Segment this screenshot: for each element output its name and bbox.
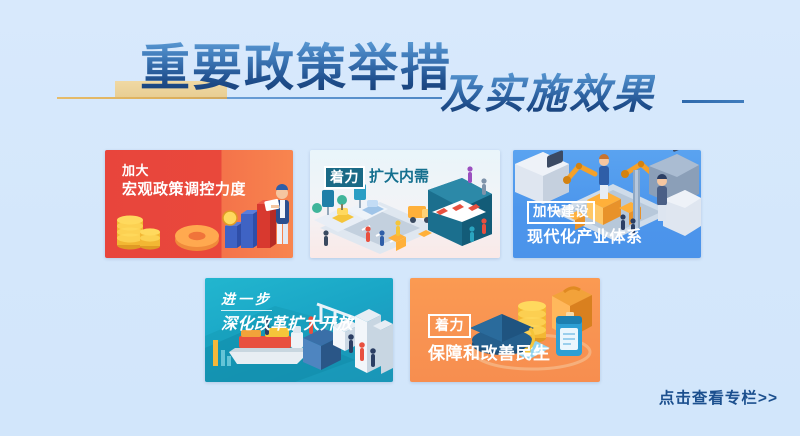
card4-caption: 进一步 深化改革扩大开放 [221, 290, 353, 335]
title-rule-right [682, 100, 744, 103]
page-header: 重要政策举措 及实施效果 [0, 0, 800, 140]
card2-line2: 扩大内需 [367, 168, 429, 186]
card3-line1: 加快建设 [527, 201, 595, 224]
policy-card-livelihood[interactable]: 着力 保障和改善民生 [410, 278, 600, 382]
view-column-link[interactable]: 点击查看专栏>> [659, 386, 778, 408]
card3-caption: 加快建设 现代化产业体系 [527, 201, 643, 248]
page-title-main: 重要政策举措 [140, 40, 452, 96]
policy-card-modern-industry[interactable]: 加快建设 现代化产业体系 [513, 150, 701, 258]
policy-card-macro-control[interactable]: 加大 宏观政策调控力度 [105, 150, 293, 258]
card1-line1: 加大 [122, 163, 246, 179]
card5-line2: 保障和改善民生 [428, 344, 551, 365]
card3-line2: 现代化产业体系 [527, 228, 643, 248]
card4-line2: 深化改革扩大开放 [221, 315, 353, 335]
card2-line1: 着力 [324, 166, 365, 189]
page-title-sub: 及实施效果 [440, 70, 655, 118]
card5-line1: 着力 [428, 314, 471, 338]
title-rule-underline [227, 97, 442, 99]
policy-card-reform-opening[interactable]: 进一步 深化改革扩大开放 [205, 278, 393, 382]
card5-caption: 着力 保障和改善民生 [428, 314, 551, 365]
title-rule-left [57, 97, 227, 99]
card4-line1: 进一步 [221, 291, 272, 311]
card1-line2: 宏观政策调控力度 [122, 181, 246, 199]
policy-card-domestic-demand[interactable]: 着力 扩大内需 [310, 150, 500, 258]
card1-caption: 加大 宏观政策调控力度 [122, 163, 246, 199]
card2-caption: 着力 扩大内需 [324, 166, 429, 189]
